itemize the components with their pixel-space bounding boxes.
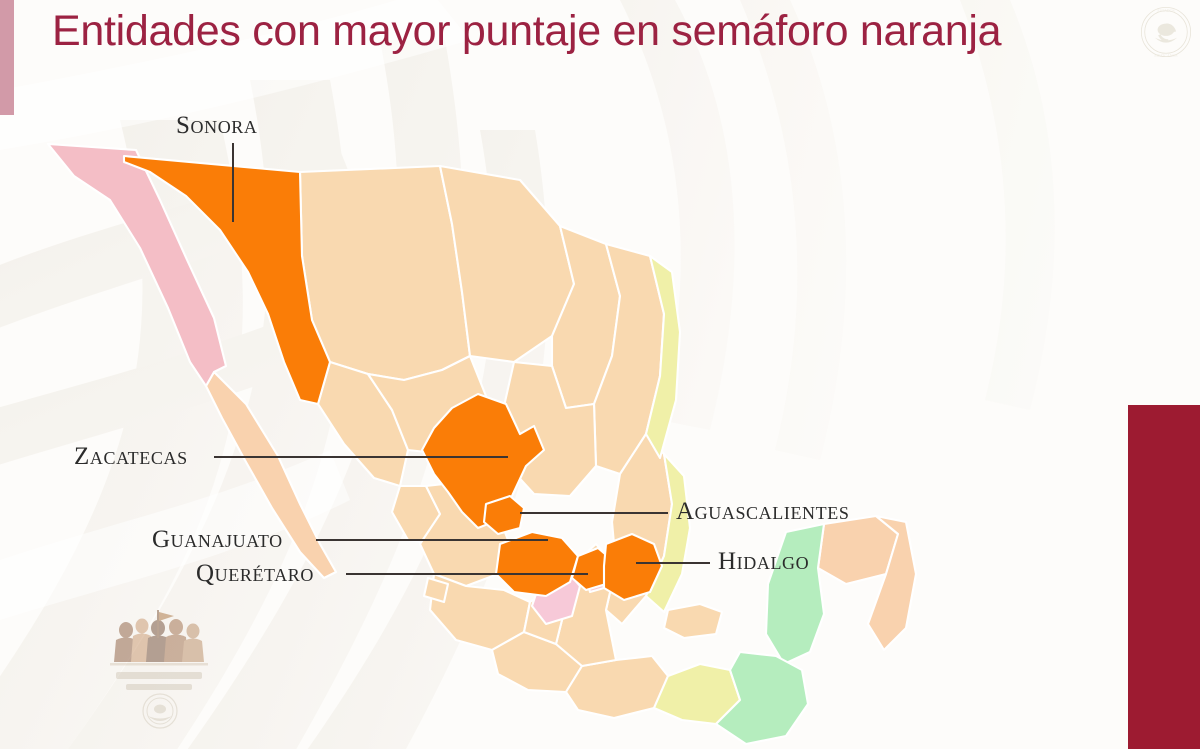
callout-guanajuato: Guanajuato — [152, 526, 283, 554]
leader-line-guanajuato — [316, 539, 548, 541]
leader-line-sonora — [232, 143, 234, 222]
state-tabasco — [664, 604, 722, 638]
right-accent-panel — [1128, 405, 1200, 749]
leader-line-zacatecas — [214, 456, 508, 458]
callout-queretaro: Querétaro — [196, 560, 314, 588]
state-chihuahua — [300, 166, 470, 380]
svg-text:ESTADOS: ESTADOS — [1157, 9, 1174, 13]
leader-line-hidalgo — [636, 562, 710, 564]
slide-root: ESTADOS MEXICANOS — [0, 0, 1200, 749]
callout-sonora: Sonora — [176, 112, 258, 140]
left-accent-bar — [0, 0, 14, 115]
mexico-government-seal-icon: ESTADOS MEXICANOS — [1138, 2, 1194, 62]
callout-aguascalientes: Aguascalientes — [676, 498, 849, 526]
leader-line-queretaro — [346, 573, 588, 575]
state-aguascalientes-highlight — [484, 496, 524, 534]
leader-line-aguascalientes — [520, 512, 668, 514]
gobierno-de-mexico-logo — [100, 608, 224, 733]
callout-hidalgo: Hidalgo — [718, 548, 809, 576]
state-campeche-green — [766, 524, 824, 664]
callout-zacatecas: Zacatecas — [74, 443, 188, 471]
page-title: Entidades con mayor puntaje en semáforo … — [52, 6, 1112, 57]
svg-text:MEXICANOS: MEXICANOS — [1154, 54, 1177, 58]
